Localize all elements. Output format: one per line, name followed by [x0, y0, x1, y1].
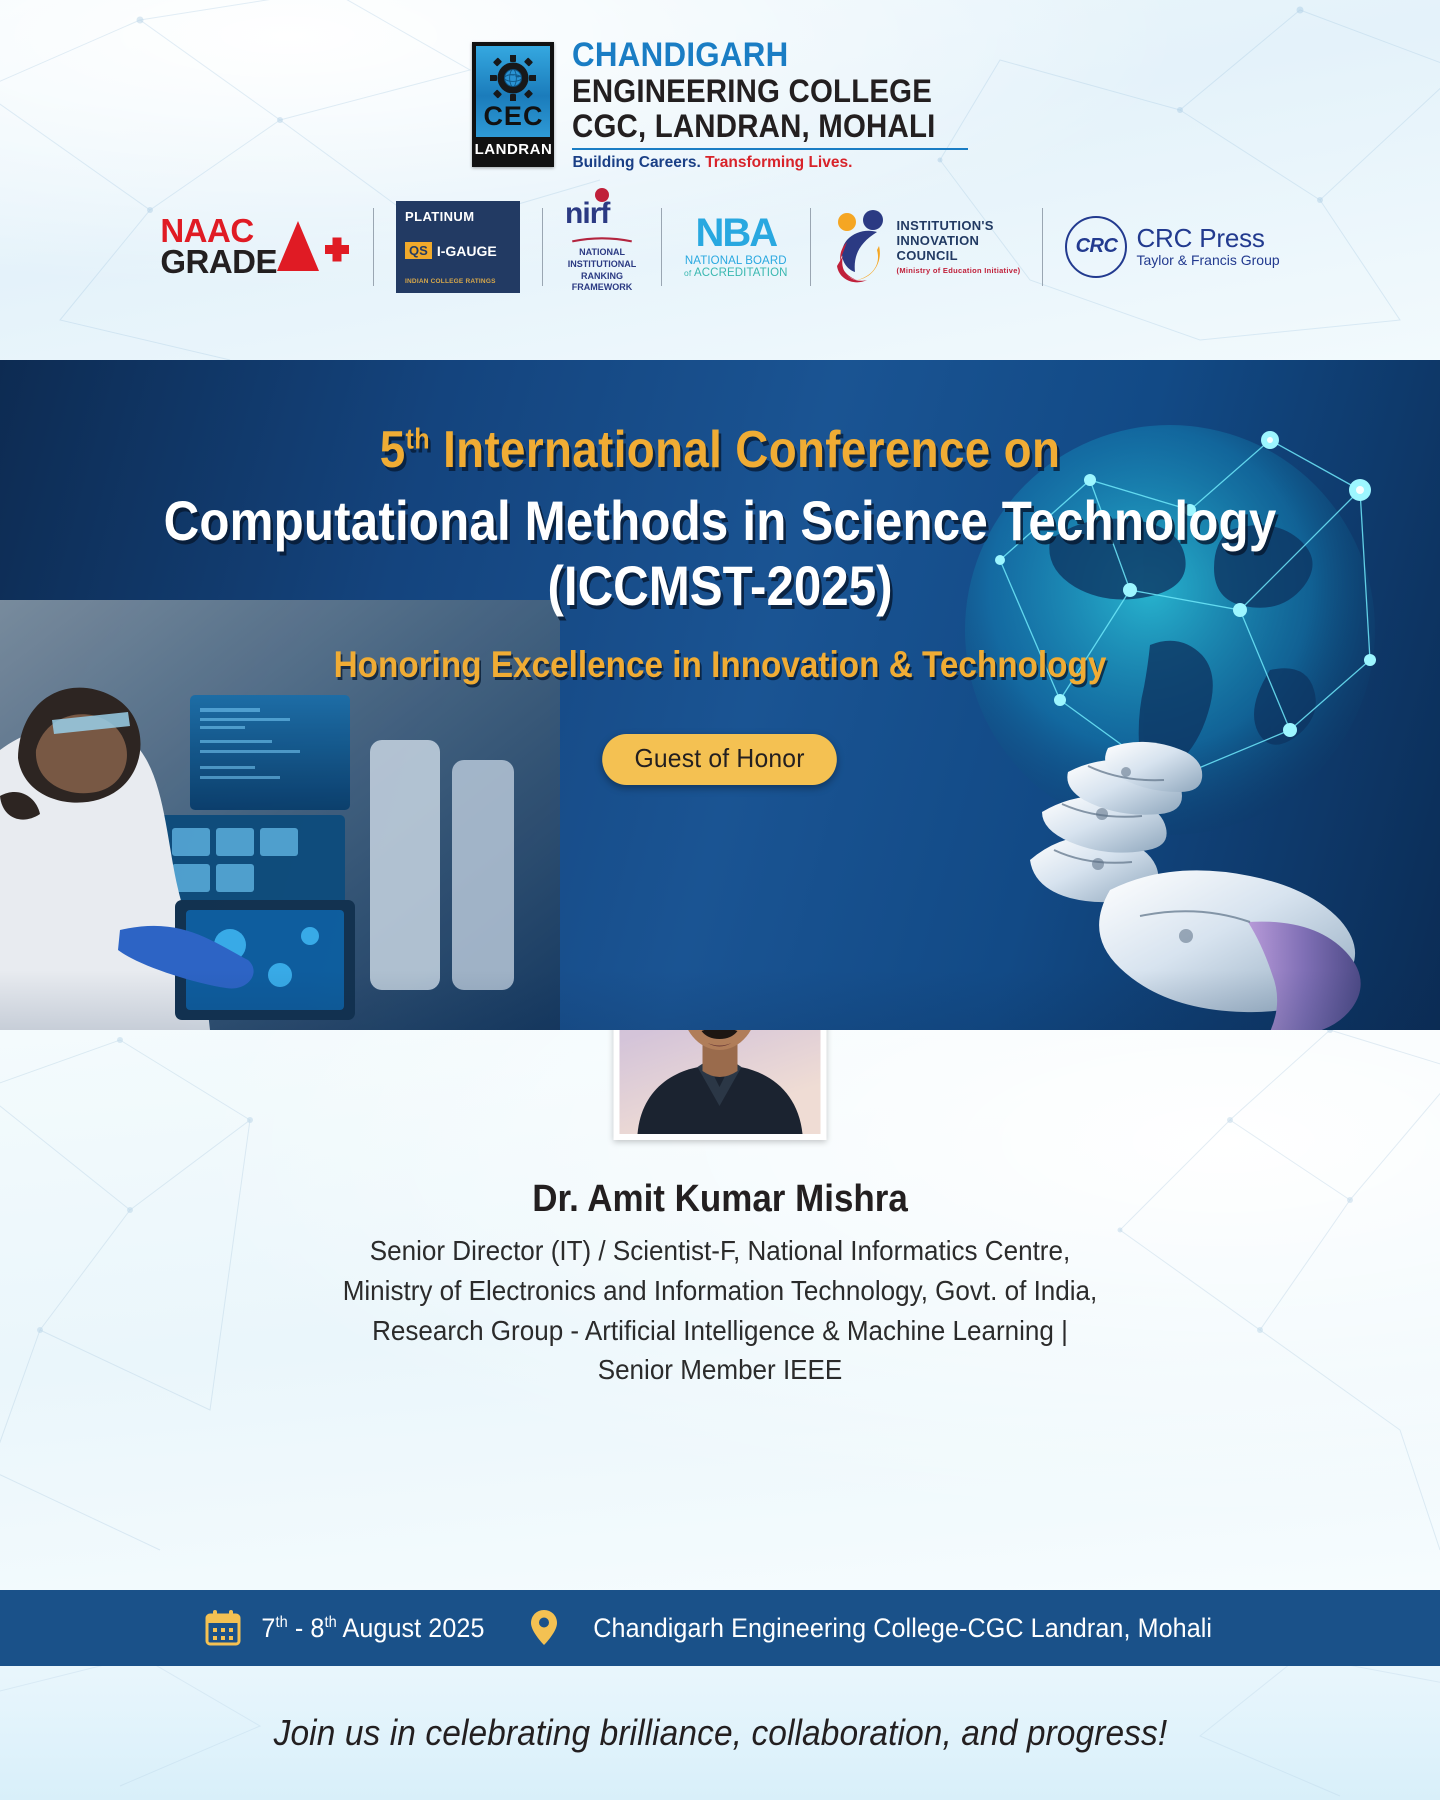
naac-grade-mark-icon	[273, 215, 351, 279]
crc-oval-icon: CRC	[1065, 216, 1127, 278]
footer-tagline: Join us in celebrating brilliance, colla…	[273, 1712, 1167, 1754]
event-info-bar: 7th - 8th August 2025 Chandigarh Enginee…	[0, 1590, 1440, 1666]
event-date-text: 7th - 8th August 2025	[262, 1613, 485, 1644]
institution-name-line2: ENGINEERING COLLEGE	[572, 75, 935, 107]
gear-globe-icon	[490, 55, 536, 101]
crc-mark: CRC	[1076, 235, 1118, 258]
accreditation-qs-igauge: PLATINUM QS I-GAUGE INDIAN COLLEGE RATIN…	[374, 199, 542, 295]
accreditation-nba: NBA NATIONAL BOARD of ACCREDITATION	[662, 199, 809, 295]
designation-line-1: Senior Director (IT) / Scientist-F, Nati…	[50, 1231, 1389, 1271]
event-date-item: 7th - 8th August 2025	[204, 1609, 493, 1647]
speaker-section: Dr. Amit Kumar Mishra Senior Director (I…	[0, 1030, 1440, 1590]
tagline-plain: Building Careers.	[572, 154, 700, 171]
date-day-from: 7	[262, 1613, 276, 1643]
iic-line3: COUNCIL	[897, 248, 1021, 263]
accreditation-crc-press: CRC CRC Press Taylor & Francis Group	[1043, 199, 1301, 295]
nirf-fullname: NATIONAL INSTITUTIONAL RANKING FRAMEWORK	[568, 247, 637, 293]
tagline-accent: Transforming Lives.	[705, 154, 852, 171]
crest-abbr: CEC	[483, 103, 543, 130]
guest-of-honor-badge: Guest of Honor	[603, 734, 838, 785]
naac-line1: NAAC	[160, 216, 277, 246]
accreditation-iic: INSTITUTION'S INNOVATION COUNCIL (Minist…	[811, 199, 1043, 295]
nirf-l2: INSTITUTIONAL	[568, 259, 637, 271]
accreditation-naac: NAAC GRADE	[138, 199, 373, 295]
speaker-photo-frame	[614, 1030, 827, 1140]
event-venue-item: Chandigarh Engineering College-CGC Landr…	[529, 1608, 1235, 1648]
hero-text-block: 5th International Conference on Computat…	[0, 360, 1440, 785]
iic-line1: INSTITUTION'S	[897, 218, 1021, 233]
brand-row: CEC LANDRAN CHANDIGARH ENGINEERING COLLE…	[0, 0, 1440, 171]
naac-line2: GRADE	[160, 247, 277, 277]
speaker-photo	[620, 1030, 821, 1134]
iic-line2: INNOVATION	[897, 233, 1021, 248]
conference-acronym: (ICCMST-2025)	[86, 555, 1353, 618]
nba-of: of	[684, 268, 691, 278]
designation-line-4: Senior Member IEEE	[50, 1350, 1389, 1390]
conference-title-main: Computational Methods in Science Technol…	[86, 490, 1353, 553]
brand-divider-rule	[572, 148, 967, 150]
institution-name-line3: CGC, LANDRAN, MOHALI	[572, 110, 935, 142]
date-month-year: August 2025	[337, 1613, 485, 1643]
speaker-designation: Senior Director (IT) / Scientist-F, Nati…	[50, 1231, 1389, 1390]
qs-sub-label: INDIAN COLLEGE RATINGS	[405, 278, 511, 285]
qs-platinum-label: PLATINUM	[405, 209, 511, 224]
event-venue-text: Chandigarh Engineering College-CGC Landr…	[594, 1613, 1213, 1644]
nba-accreditation: ACCREDITATION	[694, 267, 788, 279]
designation-line-2: Ministry of Electronics and Information …	[50, 1271, 1389, 1311]
nirf-wordmark-icon: nirf	[565, 199, 639, 239]
qs-mark: QS	[405, 242, 432, 259]
accreditation-nirf: nirf NATIONAL INSTITUTIONAL RANKING FRAM…	[543, 199, 661, 295]
nba-wordmark-icon: NBA	[695, 215, 776, 251]
conference-poster: CEC LANDRAN CHANDIGARH ENGINEERING COLLE…	[0, 0, 1440, 1800]
institution-tagline: Building Careers. Transforming Lives.	[572, 155, 967, 171]
hero-banner: 5th International Conference on Computat…	[0, 360, 1440, 1030]
nba-line1: NATIONAL BOARD	[685, 255, 787, 267]
institution-name-line1: CHANDIGARH	[572, 38, 935, 72]
date-day-to: 8	[311, 1613, 325, 1643]
date-ord-from: th	[276, 1614, 288, 1631]
location-pin-icon	[529, 1608, 559, 1648]
cec-crest-logo: CEC LANDRAN	[472, 42, 554, 167]
iic-ministry: (Ministry of Education Initiative)	[897, 267, 1021, 276]
qs-igauge-label: I-GAUGE	[437, 243, 497, 259]
conference-subtitle: Honoring Excellence in Innovation & Tech…	[72, 644, 1368, 686]
date-ord-to: th	[325, 1614, 337, 1631]
edition-ordinal: th	[406, 424, 430, 456]
date-separator: -	[288, 1613, 311, 1643]
crest-campus: LANDRAN	[476, 137, 550, 163]
guest-of-honor-badge-wrap: Guest of Honor	[0, 734, 1440, 785]
crc-press-group: Taylor & Francis Group	[1136, 253, 1279, 269]
edition-number: 5	[380, 421, 406, 479]
footer-tagline-band: Join us in celebrating brilliance, colla…	[0, 1666, 1440, 1800]
nirf-l1: NATIONAL	[568, 247, 637, 259]
nirf-word: nirf	[565, 199, 639, 229]
conference-edition-line: 5th International Conference on	[86, 422, 1353, 478]
hero-bottom-fade	[0, 970, 1440, 1030]
nirf-l3: RANKING	[568, 271, 637, 283]
institution-name-block: CHANDIGARH ENGINEERING COLLEGE CGC, LAND…	[572, 38, 967, 171]
iic-figures-icon	[833, 206, 889, 288]
designation-line-3: Research Group - Artificial Intelligence…	[50, 1311, 1389, 1351]
conference-title-prefix: International Conference on	[430, 421, 1060, 479]
nba-line2: of ACCREDITATION	[684, 267, 787, 279]
nirf-l4: FRAMEWORK	[568, 282, 637, 294]
accreditation-row: NAAC GRADE PLATINUM	[0, 199, 1440, 295]
header-band: CEC LANDRAN CHANDIGARH ENGINEERING COLLE…	[0, 0, 1440, 360]
crc-press-name: CRC Press	[1136, 224, 1279, 253]
calendar-icon	[204, 1609, 242, 1647]
